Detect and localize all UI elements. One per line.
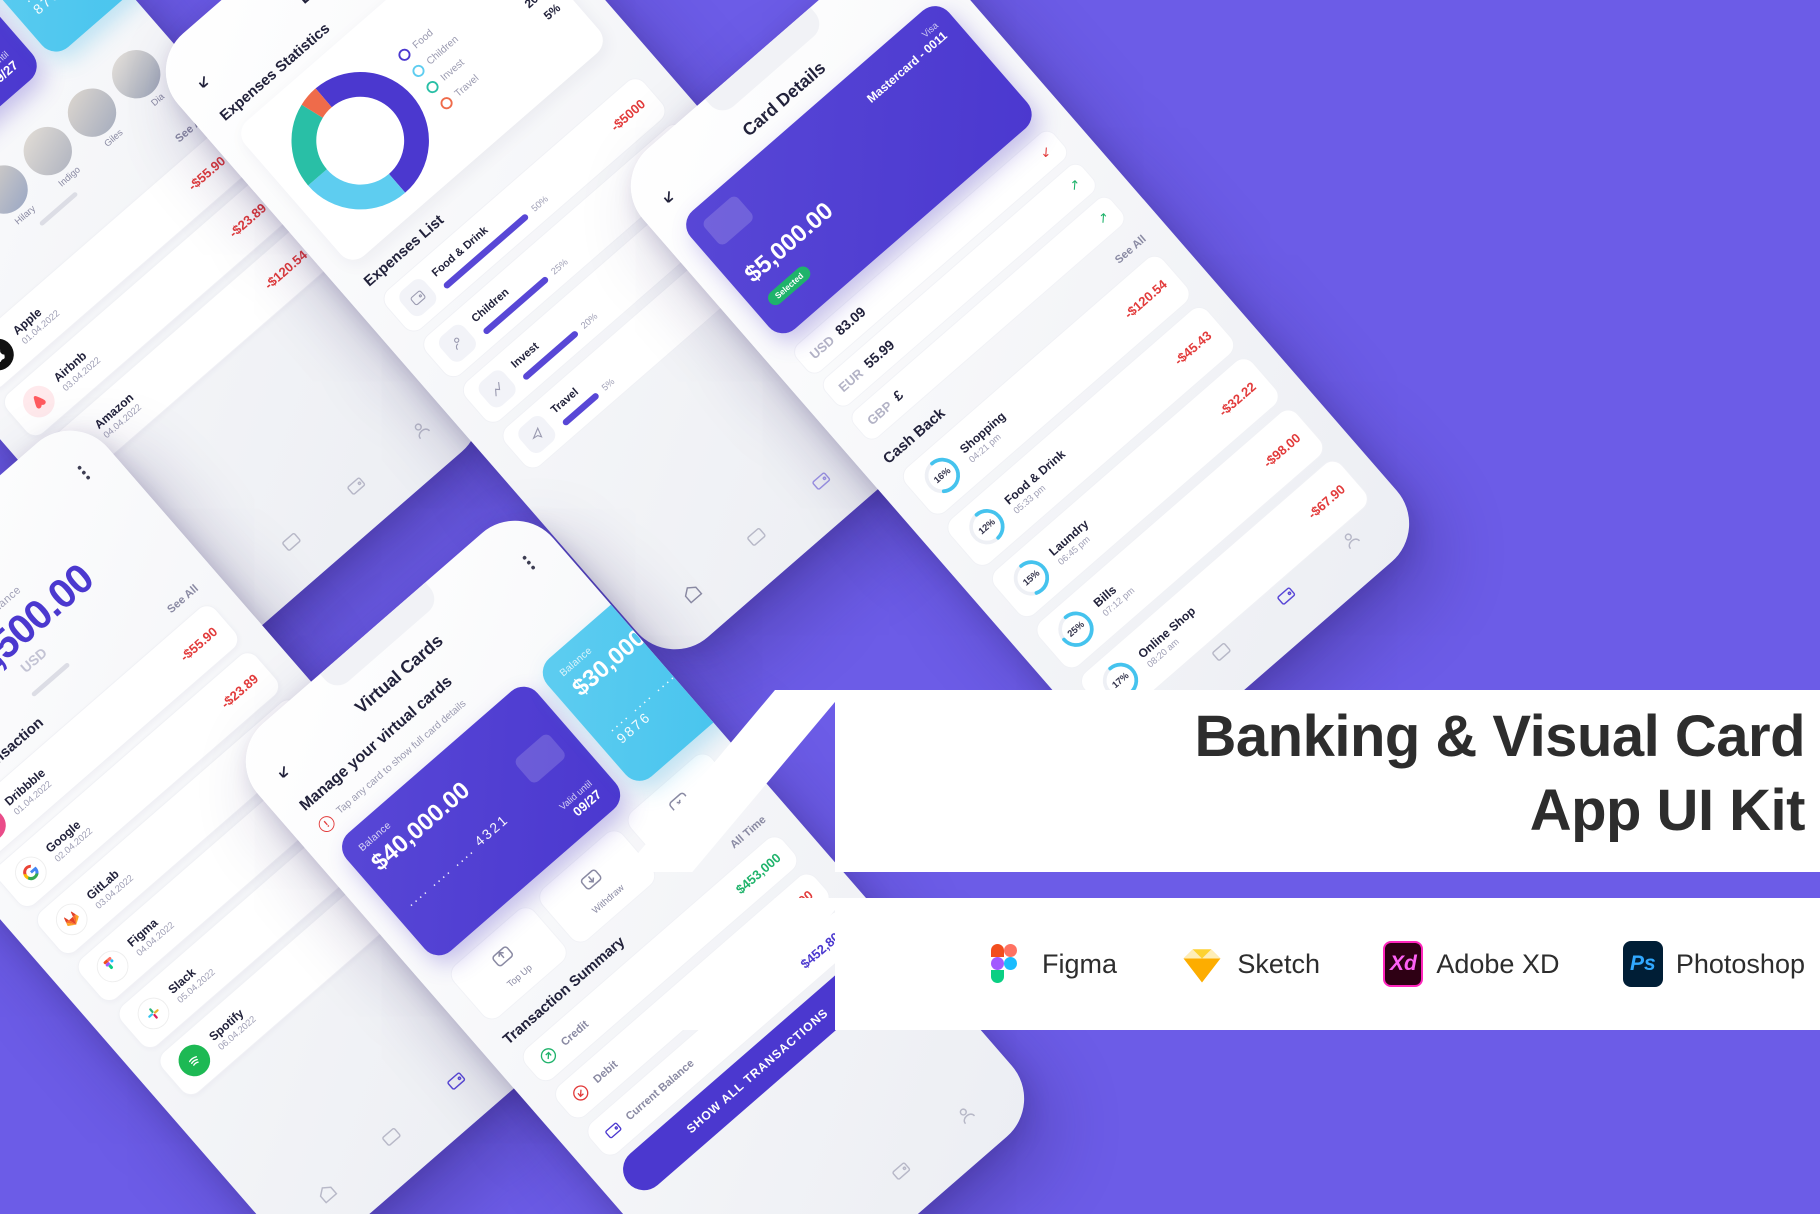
contact-name: Ursula [0,234,3,274]
wallet-icon [600,1117,626,1143]
nav-wallet[interactable] [341,471,373,503]
percent-label: 25% [1048,602,1103,657]
dribbble-logo [0,803,12,848]
trend-down-icon: ↙ [1037,142,1056,161]
transaction-amount: -$120.54 [1121,276,1170,321]
promo-title-banner: Banking & Visual Card App UI Kit [835,690,1820,872]
percent-ring: 16% [915,448,970,503]
nav-profile[interactable] [951,1100,983,1132]
promo-tools-banner: Figma Sketch Xd Adobe XD Ps Photoshop [835,898,1820,1030]
tool-sketch: Sketch [1180,942,1320,986]
promo-title: Banking & Visual Card App UI Kit [1195,700,1805,848]
currency-code: EUR [835,365,866,394]
promo-stage: Home Balance $50,000.00 .... .... .... 4… [0,0,1820,1214]
legend-swatch-children [410,62,427,79]
nav-card[interactable] [1207,637,1239,669]
photoshop-icon: Ps [1623,941,1663,987]
expense-percent: 20% [579,311,600,331]
transaction-amount: -$55.90 [185,153,228,193]
apple-logo [0,332,20,377]
nav-wallet[interactable] [1271,581,1303,613]
trend-up-icon: ↗ [1065,175,1084,194]
percent-label: 16% [915,448,970,503]
nav-home[interactable] [677,578,709,610]
expense-amount: -$5000 [608,96,648,134]
nav-home[interactable] [312,1178,344,1210]
more-options-icon[interactable] [71,460,97,486]
spotify-logo [172,1038,217,1083]
legend-swatch-food [396,46,413,63]
nav-wallet[interactable] [441,1066,473,1098]
adobe-xd-icon: Xd [1383,941,1423,987]
trend-up-icon: ↗ [1094,208,1113,227]
transaction-amount: -$32.22 [1216,379,1259,419]
back-arrow-icon[interactable] [657,184,686,213]
bottom-navigation[interactable] [727,1072,1013,1214]
percent-ring: 25% [1048,602,1103,657]
slack-logo [131,991,176,1036]
transaction-amount: -$23.89 [218,671,261,711]
expense-percent: 50% [529,194,550,214]
expense-percent: 5% [600,376,617,393]
travel-icon [514,412,559,457]
card-number: .... .... .... 8765 [20,0,132,18]
child-icon [435,321,480,366]
back-arrow-icon[interactable] [272,759,301,788]
tool-label: Photoshop [1676,949,1805,980]
nav-profile[interactable] [406,415,438,447]
transaction-amount: -$67.90 [1305,481,1348,521]
tool-photoshop: Ps Photoshop [1623,941,1805,987]
wallet-icon [396,275,441,320]
tool-figma: Figma [985,942,1117,986]
transaction-amount: -$98.00 [1260,430,1303,470]
currency-code: GBP [864,398,895,428]
promo-title-line-1: Banking & Visual Card [1195,700,1805,774]
transaction-amount: -$45.43 [1171,328,1214,368]
expense-percent: 25% [549,257,570,277]
tool-adobe-xd: Xd Adobe XD [1383,941,1559,987]
summary-amount: $453,000 [733,850,784,897]
card-valid-until: Valid until 09/27 [558,779,604,824]
legend-swatch-travel [438,95,455,112]
figma-logo [90,944,135,989]
google-logo [9,850,54,895]
card-valid-until: Valid until 09/27 [0,50,21,95]
back-arrow-icon[interactable] [192,69,221,98]
currency-code: USD [806,332,837,361]
invest-icon [475,367,520,412]
debit-down-icon [568,1080,594,1106]
percent-label: 12% [959,499,1014,554]
tool-label: Sketch [1237,949,1320,980]
legend-value: 5% [541,1,563,23]
tool-label: Figma [1042,949,1117,980]
card-chip-icon [701,194,755,247]
promo-title-line-2: App UI Kit [1195,774,1805,848]
nav-card[interactable] [277,527,309,559]
airbnb-logo [17,379,62,424]
sketch-icon [1180,942,1224,986]
percent-ring: 15% [1004,550,1059,605]
percent-label: 15% [1004,550,1059,605]
credit-up-icon [535,1043,561,1069]
nav-profile[interactable] [1336,525,1368,557]
nav-wallet[interactable] [886,1156,918,1188]
nav-wallet[interactable] [806,466,838,498]
tool-logo-row: Figma Sketch Xd Adobe XD Ps Photoshop [985,898,1805,1030]
more-options-icon[interactable] [516,550,542,576]
nav-card[interactable] [377,1122,409,1154]
transaction-amount: -$23.89 [226,200,269,240]
more-options-icon[interactable] [901,0,927,1]
percent-ring: 12% [959,499,1014,554]
gitlab-logo [49,897,94,942]
transaction-amount: -$120.54 [261,247,310,292]
warning-icon: ! [315,813,337,835]
figma-icon [985,942,1029,986]
nav-card[interactable] [742,522,774,554]
tool-label: Adobe XD [1436,949,1559,980]
legend-swatch-invest [424,79,441,96]
transaction-amount: -$55.90 [177,624,220,664]
